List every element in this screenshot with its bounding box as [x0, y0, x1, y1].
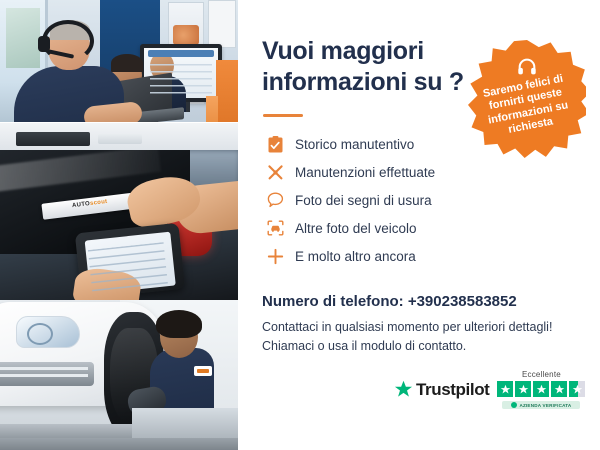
contact-line-2: Chiamaci o usa il modulo di contatto. — [262, 337, 582, 356]
content-panel: Vuoi maggiori informazioni su ? Saremo f… — [238, 0, 600, 450]
car-inspection-photo: AUTOscout — [0, 150, 238, 300]
advertisement-banner: AUTOscout Vuoi maggiori informazioni — [0, 0, 600, 450]
workshop-bench — [132, 408, 238, 438]
feature-item-wear-photos: Foto dei segni di usura — [262, 187, 562, 213]
plus-icon — [262, 248, 288, 265]
checklist-icon — [262, 136, 288, 153]
feature-item-vehicle-photos: Altre foto del veicolo — [262, 215, 562, 241]
headset-icon — [516, 56, 538, 78]
star-filled — [551, 381, 567, 397]
workshop-photo — [0, 300, 238, 450]
verified-label: AZIENDA VERIFICATA — [519, 403, 571, 408]
trustpilot-star-icon — [394, 380, 413, 399]
workshop-floor — [0, 438, 238, 450]
car-frame-icon — [262, 220, 288, 236]
trustpilot-rating-label: Eccellente — [522, 370, 561, 379]
tools-icon — [262, 164, 288, 181]
speech-bubble-icon — [262, 192, 288, 208]
trustpilot-rating-block: Eccellente — [497, 370, 585, 409]
keyboard — [16, 132, 90, 146]
feature-label: Storico manutentivo — [288, 137, 414, 152]
page-title: Vuoi maggiori informazioni su ? — [262, 36, 472, 97]
star-half — [569, 381, 585, 397]
verified-company-badge: AZIENDA VERIFICATA — [502, 401, 580, 409]
feature-item-more: E molto altro ancora — [262, 243, 562, 269]
star-filled — [497, 381, 513, 397]
feature-label: E molto altro ancora — [288, 249, 416, 264]
feature-label: Manutenzioni effettuate — [288, 165, 435, 180]
star-filled — [515, 381, 531, 397]
feature-label: Altre foto del veicolo — [288, 221, 417, 236]
car-headlight — [16, 316, 80, 348]
trustpilot-badge[interactable]: Trustpilot Eccellente — [394, 370, 585, 409]
trustpilot-wordmark: Trustpilot — [416, 380, 489, 400]
phone-number[interactable]: Numero di telefono: +390238583852 — [262, 293, 517, 310]
feature-item-maintenance-done: Manutenzioni effettuate — [262, 159, 562, 185]
contact-instructions: Contattaci in qualsiasi momento per ulte… — [262, 318, 582, 357]
car-grille — [0, 362, 94, 386]
contact-line-1: Contattaci in qualsiasi momento per ulte… — [262, 318, 582, 337]
verified-check-icon — [511, 402, 517, 408]
uniform-logo — [194, 366, 212, 376]
feature-label: Foto dei segni di usura — [288, 193, 432, 208]
keyboard-2 — [98, 134, 142, 144]
star-filled — [533, 381, 549, 397]
monitor-toolbar — [148, 50, 214, 57]
wall-poster-2 — [208, 0, 236, 48]
call-center-photo — [0, 0, 238, 150]
mechanic-hair — [156, 310, 202, 338]
trustpilot-logo: Trustpilot — [394, 380, 489, 400]
trustpilot-stars — [497, 381, 585, 397]
colleague-hair — [111, 54, 143, 72]
title-divider — [263, 114, 303, 117]
monitor-content-rows — [150, 64, 212, 94]
tablet-screen-rows — [88, 242, 168, 294]
feature-list: Storico manutentivo Manutenzioni effettu… — [262, 131, 562, 271]
photo-column: AUTOscout — [0, 0, 238, 450]
feature-item-maintenance-history: Storico manutentivo — [262, 131, 562, 157]
